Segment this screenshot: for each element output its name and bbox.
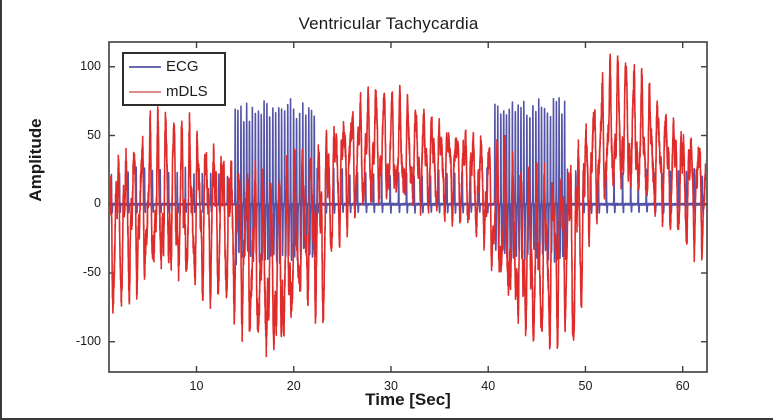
legend-label-ecg: ECG <box>166 59 199 74</box>
legend-label-mdls: mDLS <box>166 84 208 99</box>
y-axis-label: Amplitude <box>26 80 46 240</box>
x-axis-label: Time [Sec] <box>109 390 707 410</box>
legend-entry-ecg: ECG <box>124 54 224 79</box>
y-tick-label: -50 <box>57 265 101 279</box>
x-tick-label: 20 <box>274 379 314 393</box>
figure-container: Ventricular Tachycardia Amplitude Time [… <box>0 0 773 420</box>
y-tick-label: -100 <box>57 334 101 348</box>
x-tick-label: 50 <box>565 379 605 393</box>
y-tick-label: 50 <box>57 128 101 142</box>
legend-swatch-ecg <box>129 66 161 68</box>
x-tick-label: 30 <box>371 379 411 393</box>
legend-entry-mdls: mDLS <box>124 79 224 104</box>
y-tick-label: 100 <box>57 59 101 73</box>
y-tick-label: 0 <box>57 196 101 210</box>
chart-plot-svg <box>2 0 773 420</box>
x-tick-label: 10 <box>177 379 217 393</box>
chart-legend: ECG mDLS <box>122 52 226 106</box>
x-tick-label: 60 <box>663 379 703 393</box>
legend-swatch-mdls <box>129 91 161 93</box>
x-tick-label: 40 <box>468 379 508 393</box>
